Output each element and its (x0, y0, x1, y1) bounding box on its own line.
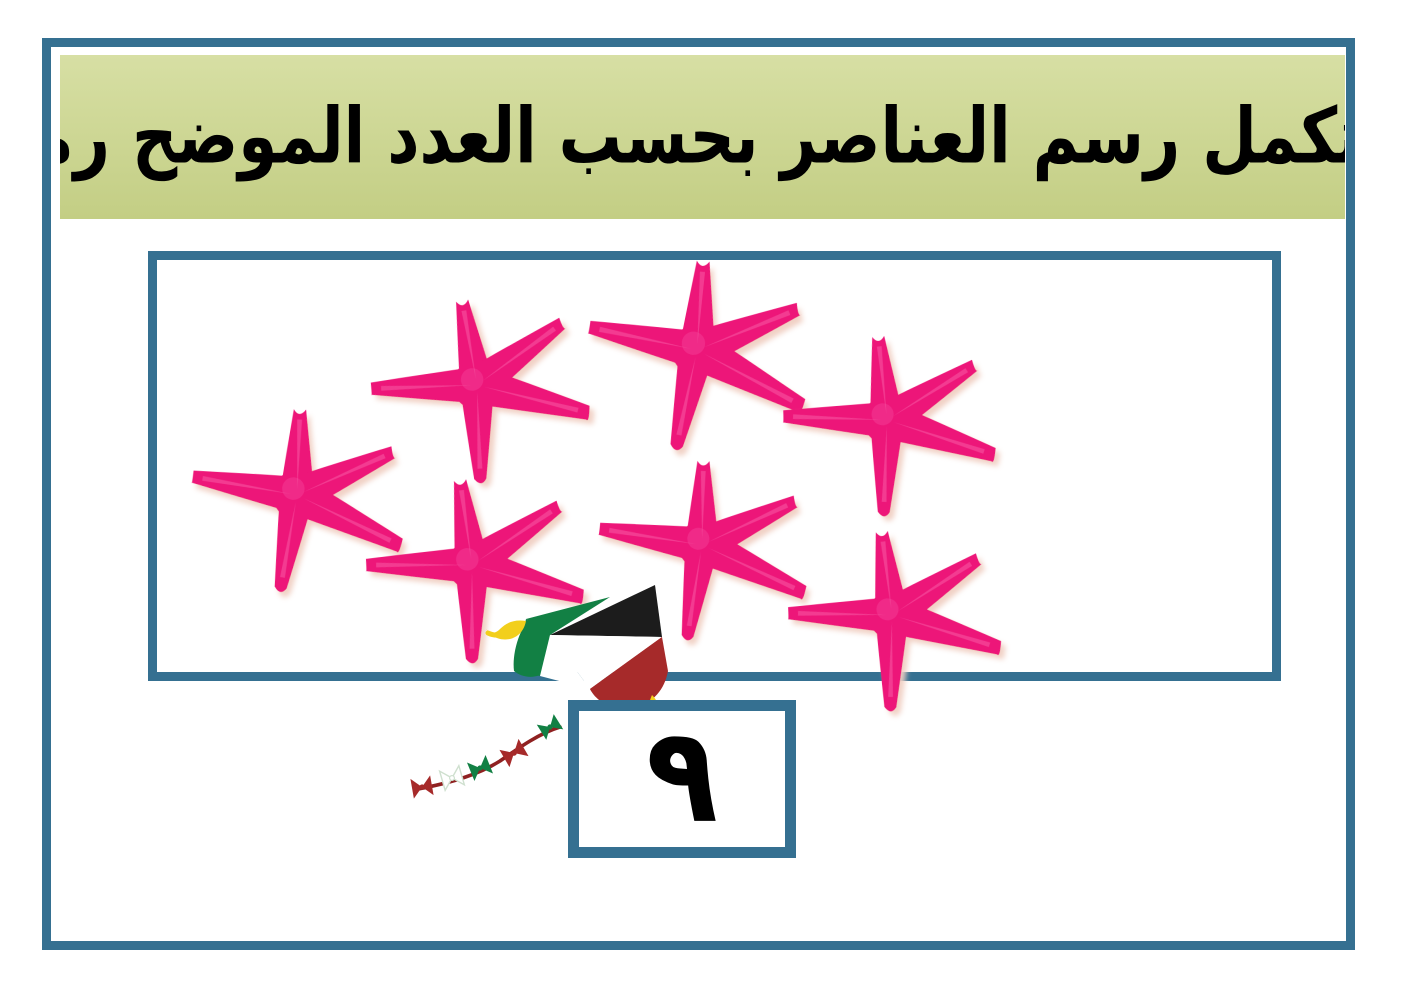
worksheet-page: استكمل رسم العناصر بحسب العدد الموضح رمز… (0, 0, 1403, 992)
starfish-field (157, 260, 1272, 672)
drawing-answer-box[interactable] (148, 251, 1281, 681)
page-title: استكمل رسم العناصر بحسب العدد الموضح رمز… (60, 97, 1345, 178)
starfish-item (337, 430, 606, 699)
numeral-box[interactable]: ٩ (568, 700, 796, 858)
title-band: استكمل رسم العناصر بحسب العدد الموضح رمز… (60, 55, 1345, 219)
numeral-value: ٩ (646, 709, 718, 841)
starfish-item (762, 485, 1022, 745)
